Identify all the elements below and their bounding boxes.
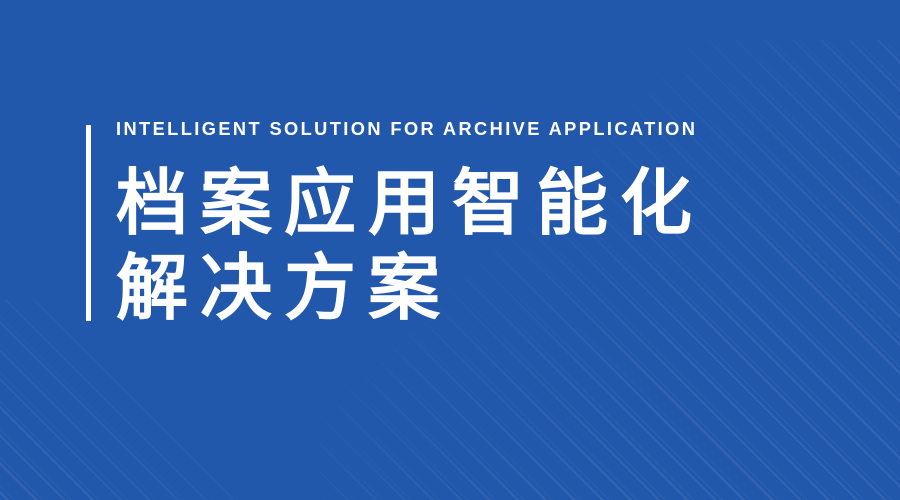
cover-slide: INTELLIGENT SOLUTION FOR ARCHIVE APPLICA… — [0, 0, 900, 500]
eyebrow-subtitle: INTELLIGENT SOLUTION FOR ARCHIVE APPLICA… — [116, 118, 845, 140]
page-title-line-2: 解决方案 — [116, 247, 856, 332]
page-title-line-1: 档案应用智能化 — [116, 162, 856, 247]
page-title: 档案应用智能化 解决方案 — [116, 162, 856, 332]
vertical-accent-bar — [86, 125, 91, 321]
title-text-block: INTELLIGENT SOLUTION FOR ARCHIVE APPLICA… — [116, 118, 856, 332]
